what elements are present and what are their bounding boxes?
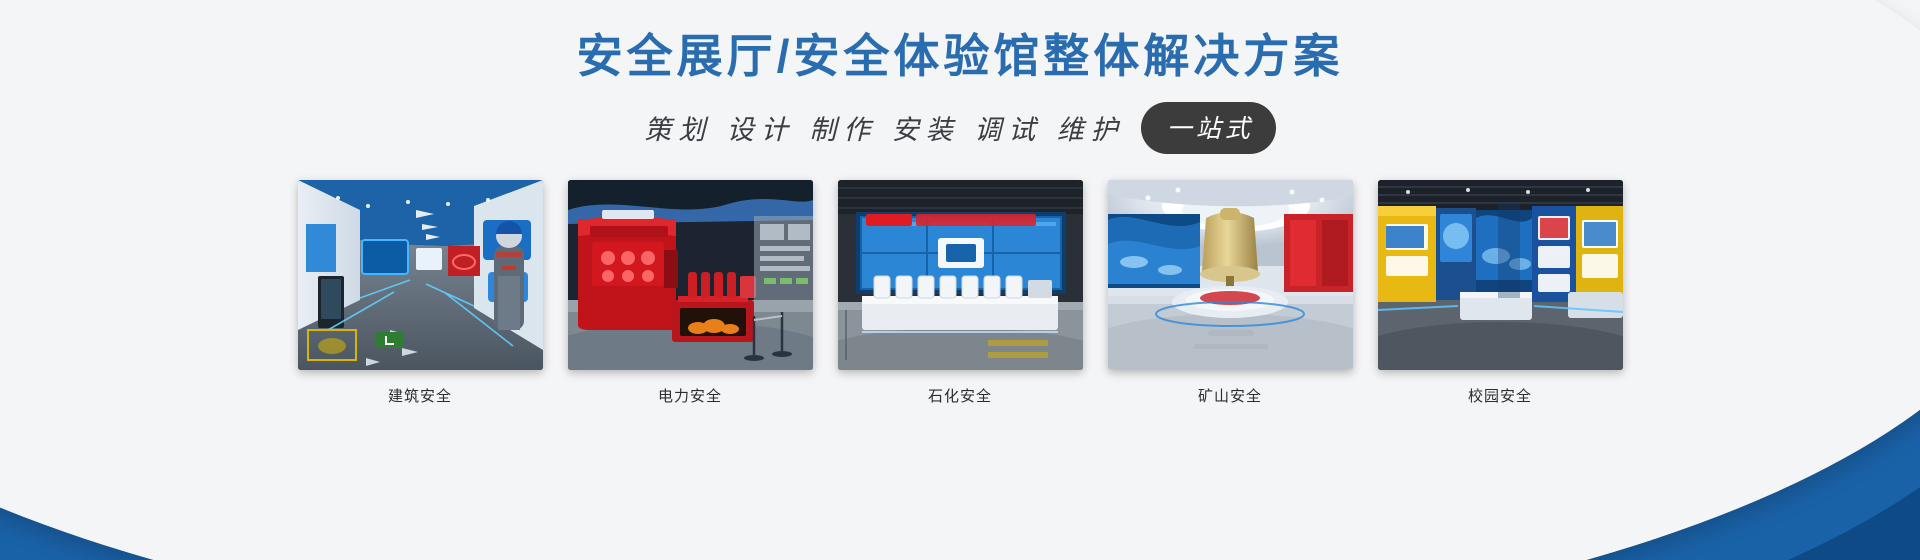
- petrochemical-hall-image: [838, 180, 1083, 370]
- power-safety-hall-image: [568, 180, 813, 370]
- card-thumbnail-campus[interactable]: [1378, 180, 1623, 370]
- solution-card-list: 建筑安全: [0, 180, 1920, 406]
- solution-card[interactable]: 建筑安全: [298, 180, 543, 406]
- page-title: 安全展厅/安全体验馆整体解决方案: [0, 0, 1920, 86]
- solution-card[interactable]: 矿山安全: [1108, 180, 1353, 406]
- one-stop-badge: 一站式: [1141, 102, 1276, 154]
- bell-exhibit: [1200, 208, 1260, 290]
- card-caption: 矿山安全: [1108, 385, 1353, 406]
- card-thumbnail-construction[interactable]: [298, 180, 543, 370]
- worker-figure: [494, 221, 524, 330]
- service-steps-text: 策划 设计 制作 安装 调试 维护: [644, 108, 1125, 147]
- campus-safety-hall-image: [1378, 180, 1623, 370]
- card-caption: 电力安全: [568, 385, 813, 406]
- card-thumbnail-petrochemical[interactable]: [838, 180, 1083, 370]
- subtitle-row: 策划 设计 制作 安装 调试 维护 一站式: [0, 102, 1920, 154]
- construction-hall-image: [298, 180, 543, 370]
- promo-banner: 安全展厅/安全体验馆整体解决方案 策划 设计 制作 安装 调试 维护 一站式: [0, 0, 1920, 560]
- card-thumbnail-mining[interactable]: [1108, 180, 1353, 370]
- card-caption: 建筑安全: [298, 385, 543, 406]
- mining-safety-hall-image: [1108, 180, 1353, 370]
- card-thumbnail-power[interactable]: [568, 180, 813, 370]
- solution-card[interactable]: 校园安全: [1378, 180, 1623, 406]
- banner-content: 安全展厅/安全体验馆整体解决方案 策划 设计 制作 安装 调试 维护 一站式: [0, 0, 1920, 406]
- card-caption: 石化安全: [838, 385, 1083, 406]
- solution-card[interactable]: 电力安全: [568, 180, 813, 406]
- card-caption: 校园安全: [1378, 385, 1623, 406]
- solution-card[interactable]: 石化安全: [838, 180, 1083, 406]
